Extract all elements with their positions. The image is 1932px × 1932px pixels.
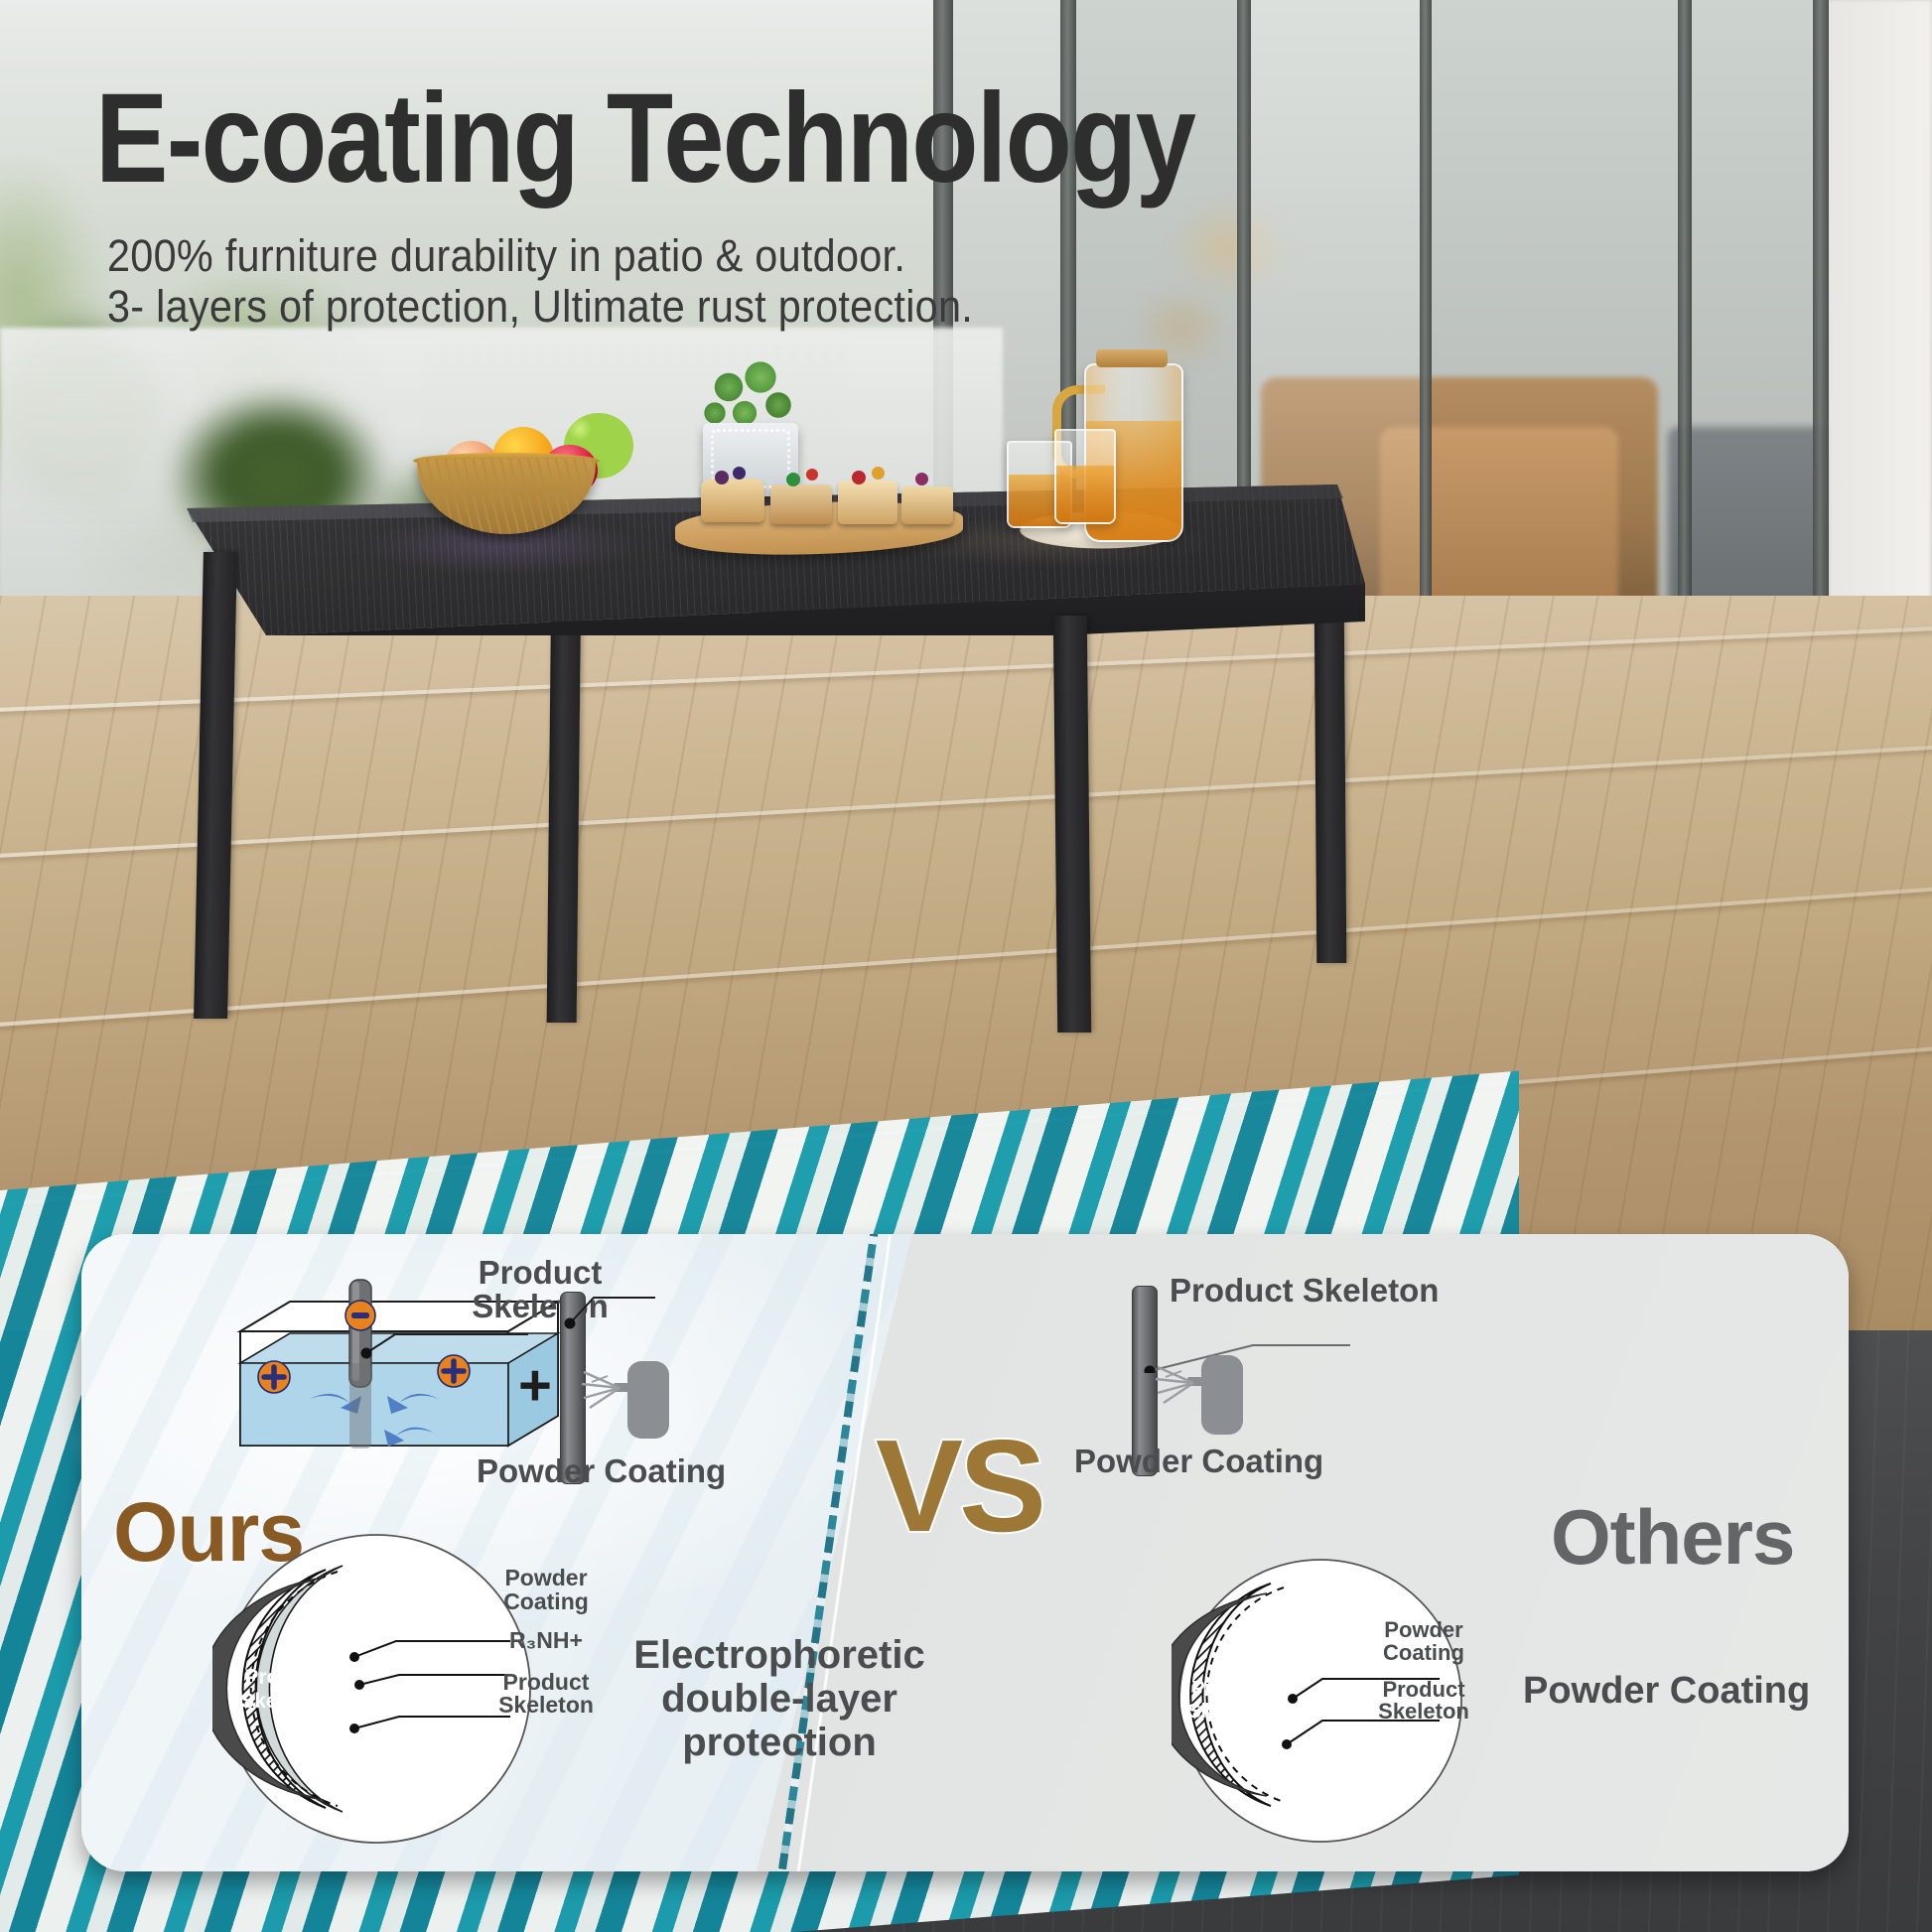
others-result-caption: Powder Coating: [1523, 1671, 1810, 1713]
cake-slice: [701, 479, 764, 522]
berry-topping: [786, 473, 800, 486]
window-mullion: [1420, 0, 1432, 695]
berry-topping: [872, 467, 885, 480]
spray-mist-icon: [1152, 1361, 1195, 1407]
spray-mist-icon: [578, 1366, 621, 1412]
ours-layer-label-r3nh: R₃NH+: [482, 1629, 611, 1653]
cake-slice: [770, 484, 832, 524]
ours-layer-label-product-skeleton: Product Skeleton: [477, 1671, 616, 1717]
ours-result-line-2: double-layer protection: [616, 1677, 943, 1764]
table-leg-back-right: [1314, 596, 1347, 963]
drinking-glass: [1054, 429, 1116, 524]
window-mullion: [1813, 0, 1829, 695]
ours-result-line-1: Electrophoretic: [616, 1633, 943, 1677]
others-title: Others: [1551, 1492, 1794, 1583]
vs-label: VS: [876, 1421, 1042, 1552]
svg-text:Product: Product: [1191, 1678, 1267, 1700]
ours-powder-coating-label: Powder Coating: [477, 1454, 726, 1488]
ours-result-caption: Electrophoretic double-layer protection: [616, 1633, 943, 1764]
svg-text:Product: Product: [244, 1666, 323, 1689]
others-powder-coating-label: Powder Coating: [1074, 1445, 1323, 1478]
ours-layer-label-powder-coating: Powder Coating: [482, 1567, 611, 1614]
svg-text:Skeleton: Skeleton: [1187, 1701, 1270, 1723]
subtitle-line-2: 3- layers of protection, Ultimate rust p…: [107, 281, 973, 333]
beverage-set: [993, 345, 1221, 559]
pitcher-wooden-lid: [1096, 349, 1168, 367]
cake-slice: [838, 481, 897, 524]
others-layer-label-product-skeleton: Product Skeleton: [1357, 1679, 1490, 1723]
berry-topping: [733, 467, 746, 480]
subtitle-line-1: 200% furniture durability in patio & out…: [107, 230, 905, 282]
fruit-bowl: [407, 397, 606, 536]
table-leg-front-right: [1053, 616, 1091, 1033]
cake-slice: [901, 486, 953, 524]
ours-skeleton-leader-line: [538, 1290, 657, 1369]
interior-wall-panel: [1827, 0, 1932, 695]
comparison-panel: Product Skeleton + Powder: [81, 1234, 1849, 1871]
berry-topping: [915, 473, 928, 485]
berry-topping: [852, 471, 866, 484]
svg-text:Skeleton: Skeleton: [240, 1690, 328, 1713]
window-mullion: [1678, 0, 1692, 695]
page-title: E-coating Technology: [95, 75, 1194, 203]
table-leg-back-left: [547, 576, 582, 1023]
berry-topping: [806, 469, 818, 481]
others-layer-label-powder-coating: Powder Coating: [1360, 1619, 1487, 1665]
wire-basket: [417, 459, 596, 534]
berry-topping: [715, 471, 729, 484]
product-infographic: E-coating Technology 200% furniture dura…: [0, 0, 1932, 1932]
dessert-tray: [675, 463, 963, 554]
